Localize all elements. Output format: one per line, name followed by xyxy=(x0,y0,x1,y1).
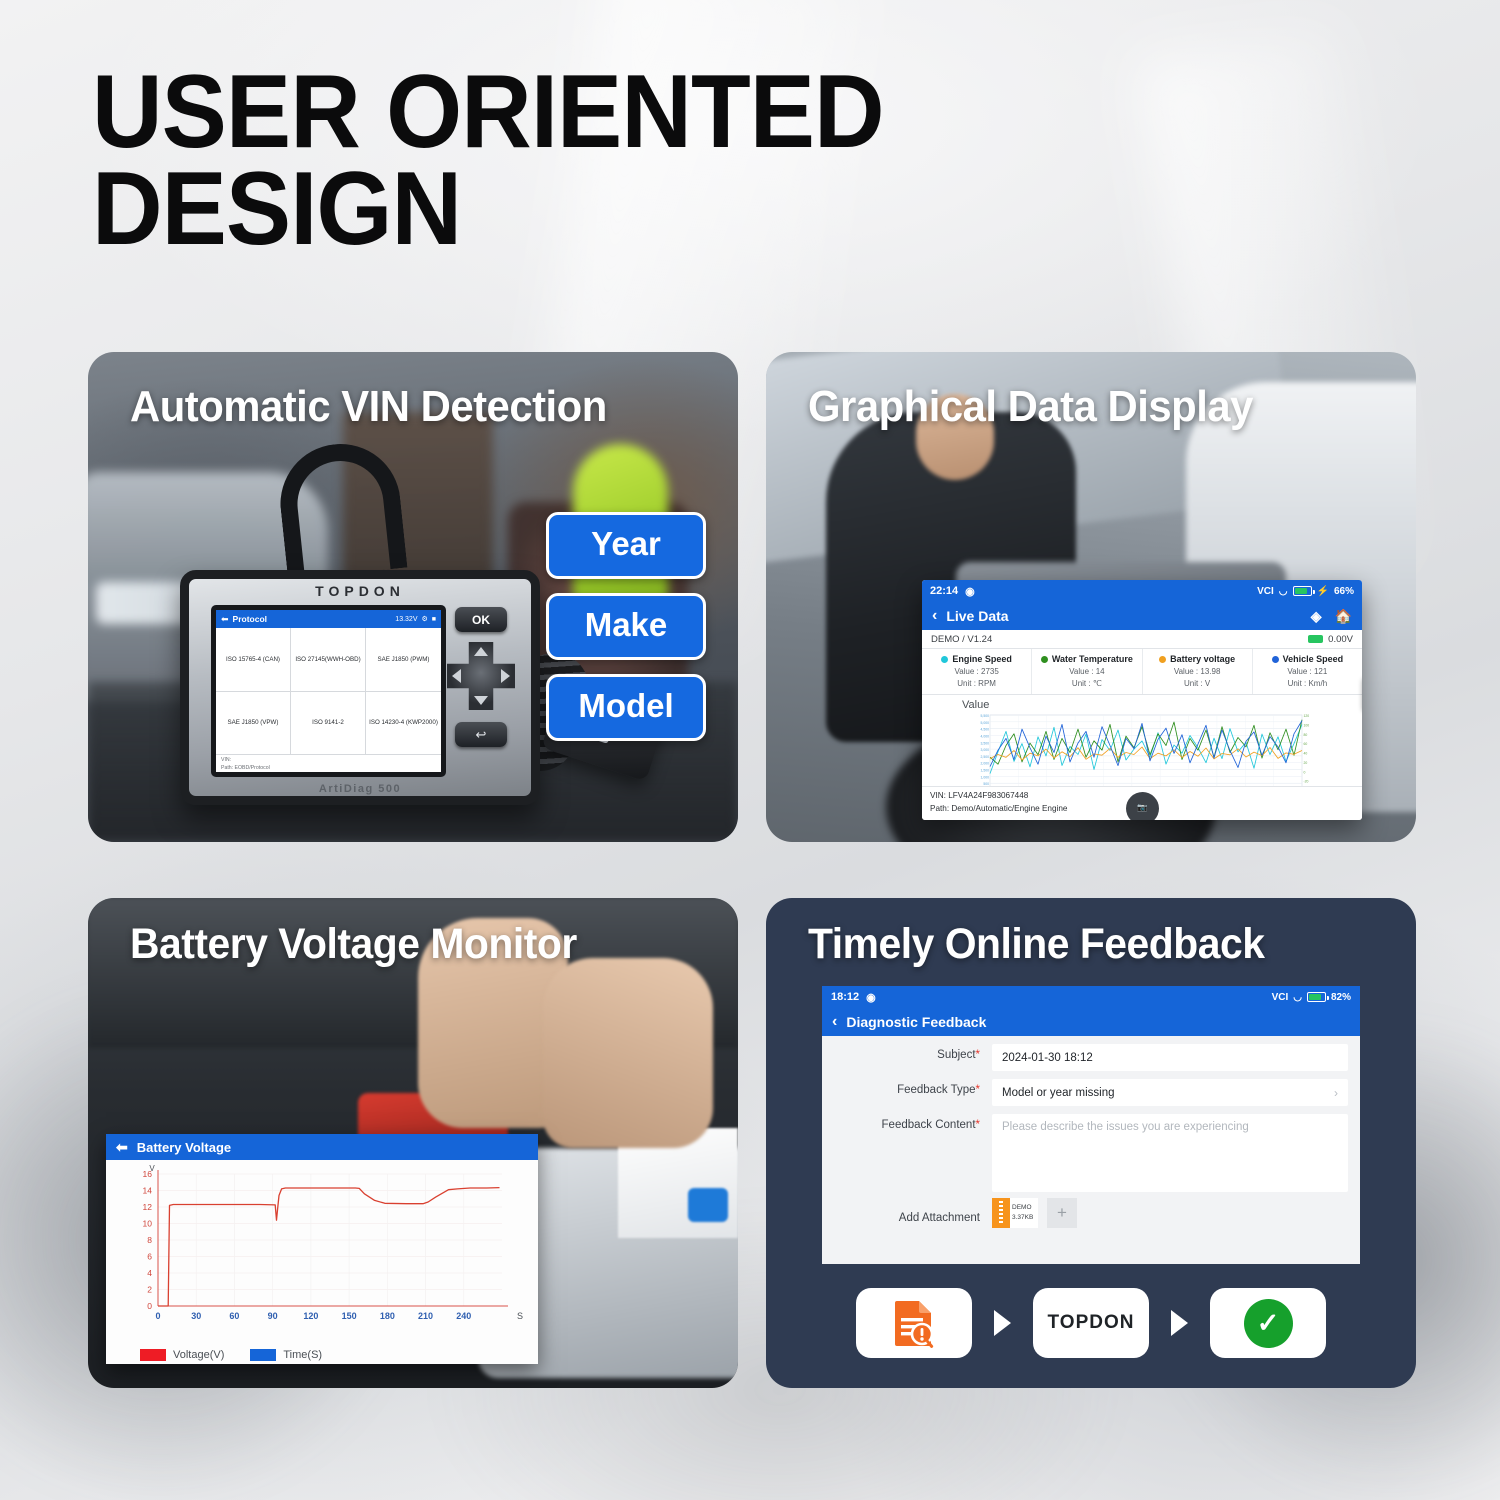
step-topdon-button[interactable]: TOPDON xyxy=(1033,1288,1149,1358)
protocol-cell[interactable]: ISO 27145(WWH-OBD) xyxy=(291,628,366,692)
card-title-feedback: Timely Online Feedback xyxy=(808,920,1264,969)
screen-path-line: Path: EOBD/Protocol xyxy=(221,765,436,773)
attachment-meta: DEMO 3.37KB xyxy=(1012,1203,1033,1223)
chart-axis-label: Value xyxy=(922,695,1362,711)
legend-swatch xyxy=(250,1349,276,1361)
page-title: USER ORIENTED DESIGN xyxy=(92,64,1173,257)
pid-row: Engine Speed Value : 2735 Unit : RPM Wat… xyxy=(922,649,1362,695)
pid-unit: Unit : ℃ xyxy=(1034,679,1139,688)
svg-text:150: 150 xyxy=(342,1311,357,1321)
feedback-type-select[interactable]: Model or year missing › xyxy=(992,1079,1348,1106)
field-label-subject: Subject* xyxy=(822,1044,992,1061)
svg-text:5,000: 5,000 xyxy=(981,721,990,725)
label-text: Feedback Content xyxy=(882,1119,976,1131)
required-mark: * xyxy=(976,1049,980,1061)
legend-label: Voltage(V) xyxy=(173,1349,224,1361)
card-title-battery: Battery Voltage Monitor xyxy=(130,920,577,969)
feedback-flow-steps: TOPDON ✓ xyxy=(766,1288,1416,1358)
status-right: VCI ◡ ⚡ 66% xyxy=(1257,586,1354,597)
required-mark: * xyxy=(976,1119,980,1131)
field-row-feedback-type: Feedback Type* Model or year missing › xyxy=(822,1071,1360,1106)
live-data-tablet: 22:14 ◉ VCI ◡ ⚡ 66% ‹ Live Data ◈ 🏠 DEMO… xyxy=(922,580,1362,820)
protocol-cell[interactable]: ISO 15765-4 (CAN) xyxy=(216,628,291,692)
arrow-right-icon xyxy=(994,1310,1011,1336)
svg-text:-20: -20 xyxy=(1304,780,1309,784)
protocol-cell[interactable]: SAE J1850 (VPW) xyxy=(216,692,291,756)
voltage-readout: 0.00V xyxy=(1308,634,1353,645)
svg-text:4: 4 xyxy=(147,1268,152,1278)
pid-color-dot xyxy=(941,656,948,663)
card-battery-voltage-monitor: Battery Voltage Monitor ⬅ Battery Voltag… xyxy=(88,898,738,1388)
svg-text:100: 100 xyxy=(1304,723,1310,727)
protocol-grid: ISO 15765-4 (CAN) ISO 27145(WWH-OBD) SAE… xyxy=(216,628,441,755)
label-text: Subject xyxy=(937,1049,975,1061)
tablet-title-bar: ‹ Live Data ◈ 🏠 xyxy=(922,602,1362,630)
svg-text:S: S xyxy=(517,1311,523,1321)
card-graphical-data-display: Graphical Data Display 22:14 ◉ VCI ◡ ⚡ 6… xyxy=(766,352,1416,842)
tablet-subheader: DEMO / V1.24 0.00V xyxy=(922,630,1362,649)
svg-text:12: 12 xyxy=(143,1202,153,1212)
svg-text:0: 0 xyxy=(155,1311,160,1321)
back-arrow-icon[interactable]: ⬅ xyxy=(116,1139,128,1156)
attachment-size: 3.37KB xyxy=(1012,1213,1033,1223)
add-attachment-button[interactable]: + xyxy=(1047,1198,1077,1228)
photo-blue-part xyxy=(688,1188,728,1222)
badge-year: Year xyxy=(546,512,706,579)
attachment-name: DEMO xyxy=(1012,1203,1033,1213)
svg-text:0: 0 xyxy=(1304,770,1306,774)
svg-text:8: 8 xyxy=(147,1235,152,1245)
svg-text:60: 60 xyxy=(1304,742,1308,746)
panel-title-bar: ‹ Diagnostic Feedback xyxy=(822,1008,1360,1036)
svg-text:3,500: 3,500 xyxy=(981,741,990,745)
panel-title: Battery Voltage xyxy=(137,1140,231,1155)
svg-text:2,000: 2,000 xyxy=(981,762,990,766)
subject-input[interactable]: 2024-01-30 18:12 xyxy=(992,1044,1348,1071)
device-model-label: ArtiDiag 500 xyxy=(189,783,531,795)
screen-vin-line: VIN: xyxy=(221,757,436,765)
battery-voltage-chart-svg: V02468101214160306090120150180210240S xyxy=(106,1160,538,1336)
protocol-cell[interactable]: SAE J1850 (PWM) xyxy=(366,628,441,692)
topdon-logo: TOPDON xyxy=(1048,1312,1135,1334)
back-chevron-icon[interactable]: ‹ xyxy=(832,1013,837,1031)
pid-card[interactable]: Vehicle Speed Value : 121 Unit : Km/h xyxy=(1253,649,1362,694)
dpad-control[interactable] xyxy=(447,642,515,710)
battery-icon xyxy=(1307,992,1326,1002)
svg-text:120: 120 xyxy=(303,1311,318,1321)
legend-item-time: Time(S) xyxy=(250,1349,322,1361)
status-right: VCI ◡ 82% xyxy=(1272,992,1351,1003)
demo-version-label: DEMO / V1.24 xyxy=(931,634,992,645)
svg-text:2: 2 xyxy=(147,1285,152,1295)
step-success-button[interactable]: ✓ xyxy=(1210,1288,1326,1358)
device-screen[interactable]: ⬅ Protocol 13.32V ⚙ ■ ISO 15765-4 (CAN) … xyxy=(211,605,446,777)
svg-text:4,500: 4,500 xyxy=(981,728,990,732)
svg-text:240: 240 xyxy=(456,1311,471,1321)
protocol-cell[interactable]: ISO 9141-2 xyxy=(291,692,366,756)
tablet-screen-title: Live Data xyxy=(946,608,1008,624)
tablet-title-icons: ◈ 🏠 xyxy=(1311,608,1352,625)
attachment-label: Add Attachment xyxy=(822,1203,992,1224)
legend-swatch xyxy=(140,1349,166,1361)
pid-value: Value : 13.98 xyxy=(1145,667,1250,676)
diagnostic-feedback-panel: 18:12 ◉ VCI ◡ 82% ‹ Diagnostic Feedback … xyxy=(822,986,1360,1264)
badge-model: Model xyxy=(546,674,706,741)
feedback-content-textarea[interactable]: Please describe the issues you are exper… xyxy=(992,1114,1348,1192)
camera-icon[interactable]: 📷 xyxy=(1126,792,1159,820)
field-row-feedback-content: Feedback Content* Please describe the is… xyxy=(822,1106,1360,1192)
pid-value: Value : 2735 xyxy=(924,667,1029,676)
battery-voltage-value: 13.32V xyxy=(395,616,417,623)
wifi-icon: ◡ xyxy=(1279,586,1288,597)
battery-percent: 66% xyxy=(1334,586,1354,597)
step-report-button[interactable] xyxy=(856,1288,972,1358)
svg-text:120: 120 xyxy=(1304,714,1310,718)
battery-chart-body[interactable]: V02468101214160306090120150180210240S Vo… xyxy=(106,1160,538,1364)
charging-icon: ⚡ xyxy=(1317,586,1329,597)
svg-text:1,500: 1,500 xyxy=(981,769,990,773)
pid-unit: Unit : V xyxy=(1145,679,1250,688)
pid-card[interactable]: Battery voltage Value : 13.98 Unit : V xyxy=(1143,649,1253,694)
dpad-down-icon[interactable] xyxy=(474,696,488,705)
device-keypad: OK ↩ xyxy=(445,605,517,781)
record-icon: ◉ xyxy=(866,991,876,1004)
pid-value: Value : 14 xyxy=(1034,667,1139,676)
svg-text:2,500: 2,500 xyxy=(981,755,990,759)
label-text: Feedback Type xyxy=(897,1084,975,1096)
field-label-feedback-type: Feedback Type* xyxy=(822,1079,992,1096)
field-label-feedback-content: Feedback Content* xyxy=(822,1114,992,1131)
protocol-cell[interactable]: ISO 14230-4 (KWP2000) xyxy=(366,692,441,756)
tablet-status-bar: 22:14 ◉ VCI ◡ ⚡ 66% xyxy=(922,580,1362,602)
record-icon: ◉ xyxy=(965,585,975,598)
check-circle-icon: ✓ xyxy=(1244,1299,1293,1348)
svg-text:1,000: 1,000 xyxy=(981,775,990,779)
legend-item-voltage: Voltage(V) xyxy=(140,1349,224,1361)
svg-text:20: 20 xyxy=(1304,761,1308,765)
svg-text:10: 10 xyxy=(143,1219,153,1229)
svg-text:3,000: 3,000 xyxy=(981,748,990,752)
pid-name: Water Temperature xyxy=(1052,654,1133,664)
wifi-icon: ◡ xyxy=(1293,992,1302,1003)
svg-text:4,000: 4,000 xyxy=(981,734,990,738)
dpad-left-icon[interactable] xyxy=(452,669,461,683)
screen-status-icons: 13.32V ⚙ ■ xyxy=(395,615,436,623)
badge-make: Make xyxy=(546,593,706,660)
arrow-right-icon xyxy=(1171,1310,1188,1336)
back-arrow-icon[interactable]: ⬅ xyxy=(221,614,229,625)
cube-icon[interactable]: ◈ xyxy=(1311,608,1322,625)
svg-text:16: 16 xyxy=(143,1169,153,1179)
dpad-right-icon[interactable] xyxy=(501,669,510,683)
battery-percent: 82% xyxy=(1331,992,1351,1003)
vin-badge-list: Year Make Model xyxy=(546,512,706,755)
svg-text:210: 210 xyxy=(418,1311,433,1321)
screen-title: Protocol xyxy=(233,614,267,624)
svg-text:6: 6 xyxy=(147,1252,152,1262)
attachment-row: Add Attachment DEMO 3.37KB + xyxy=(822,1192,1360,1228)
subject-value: 2024-01-30 18:12 xyxy=(1002,1052,1093,1064)
pid-unit: Unit : RPM xyxy=(924,679,1029,688)
field-row-subject: Subject* 2024-01-30 18:12 xyxy=(822,1036,1360,1071)
svg-text:14: 14 xyxy=(143,1186,153,1196)
required-mark: * xyxy=(976,1084,980,1096)
pid-unit: Unit : Km/h xyxy=(1255,679,1360,688)
status-time: 22:14 xyxy=(930,585,958,597)
back-button[interactable]: ↩ xyxy=(455,722,507,747)
pid-name: Vehicle Speed xyxy=(1283,654,1344,664)
card-automatic-vin-detection: Automatic VIN Detection TOPDON ArtiDiag … xyxy=(88,352,738,842)
photo-hand xyxy=(543,958,713,1148)
battery-icon xyxy=(1293,586,1312,596)
attachment-thumbnail[interactable]: DEMO 3.37KB xyxy=(992,1198,1038,1228)
screen-footer: VIN: Path: EOBD/Protocol xyxy=(216,755,441,775)
ok-button[interactable]: OK xyxy=(455,607,507,632)
svg-text:90: 90 xyxy=(268,1311,278,1321)
battery-voltage-panel: ⬅ Battery Voltage V024681012141603060901… xyxy=(106,1134,538,1364)
chevron-right-icon: › xyxy=(1334,1086,1338,1100)
svg-text:60: 60 xyxy=(229,1311,239,1321)
battery-indicator-icon xyxy=(1308,635,1323,643)
zip-file-icon xyxy=(992,1198,1010,1228)
vci-label: VCI xyxy=(1272,992,1289,1003)
screen-titlebar: ⬅ Protocol 13.32V ⚙ ■ xyxy=(216,610,441,628)
tablet-footer: VIN: LFV4A24F983067448 Path: Demo/Automa… xyxy=(922,786,1362,820)
home-icon[interactable]: 🏠 xyxy=(1335,608,1352,625)
pid-name: Battery voltage xyxy=(1170,654,1235,664)
pid-value: Value : 121 xyxy=(1255,667,1360,676)
status-time: 18:12 xyxy=(831,991,859,1003)
voltage-value: 0.00V xyxy=(1328,634,1353,645)
card-title-vin: Automatic VIN Detection xyxy=(130,382,607,432)
chart-legend: Voltage(V) Time(S) xyxy=(140,1349,322,1361)
vci-label: VCI xyxy=(1257,586,1274,597)
artidiag-scanner-device: TOPDON ArtiDiag 500 ⬅ Protocol 13.32V ⚙ … xyxy=(180,570,540,805)
panel-status-bar: 18:12 ◉ VCI ◡ 82% xyxy=(822,986,1360,1008)
feedback-type-value: Model or year missing xyxy=(1002,1087,1114,1099)
svg-text:0: 0 xyxy=(147,1301,152,1311)
back-chevron-icon[interactable]: ‹ xyxy=(932,607,937,625)
document-search-icon xyxy=(891,1298,937,1348)
svg-text:180: 180 xyxy=(380,1311,395,1321)
svg-text:5,500: 5,500 xyxy=(981,714,990,718)
pid-color-dot xyxy=(1272,656,1279,663)
svg-text:30: 30 xyxy=(191,1311,201,1321)
panel-title: Diagnostic Feedback xyxy=(846,1014,986,1030)
card-timely-online-feedback: Timely Online Feedback 18:12 ◉ VCI ◡ 82%… xyxy=(766,898,1416,1388)
pid-card[interactable]: Engine Speed Value : 2735 Unit : RPM xyxy=(922,649,1032,694)
gear-icon[interactable]: ⚙ xyxy=(421,615,427,623)
pid-color-dot xyxy=(1159,656,1166,663)
pid-card[interactable]: Water Temperature Value : 14 Unit : ℃ xyxy=(1032,649,1142,694)
dpad-up-icon[interactable] xyxy=(474,647,488,656)
panel-title-bar: ⬅ Battery Voltage xyxy=(106,1134,538,1160)
pid-color-dot xyxy=(1041,656,1048,663)
legend-label: Time(S) xyxy=(283,1349,322,1361)
svg-text:80: 80 xyxy=(1304,733,1308,737)
battery-icon: ■ xyxy=(432,616,436,623)
device-brand-label: TOPDON xyxy=(189,583,531,599)
pid-name: Engine Speed xyxy=(952,654,1012,664)
svg-text:40: 40 xyxy=(1304,752,1308,756)
card-title-graph: Graphical Data Display xyxy=(808,382,1253,432)
